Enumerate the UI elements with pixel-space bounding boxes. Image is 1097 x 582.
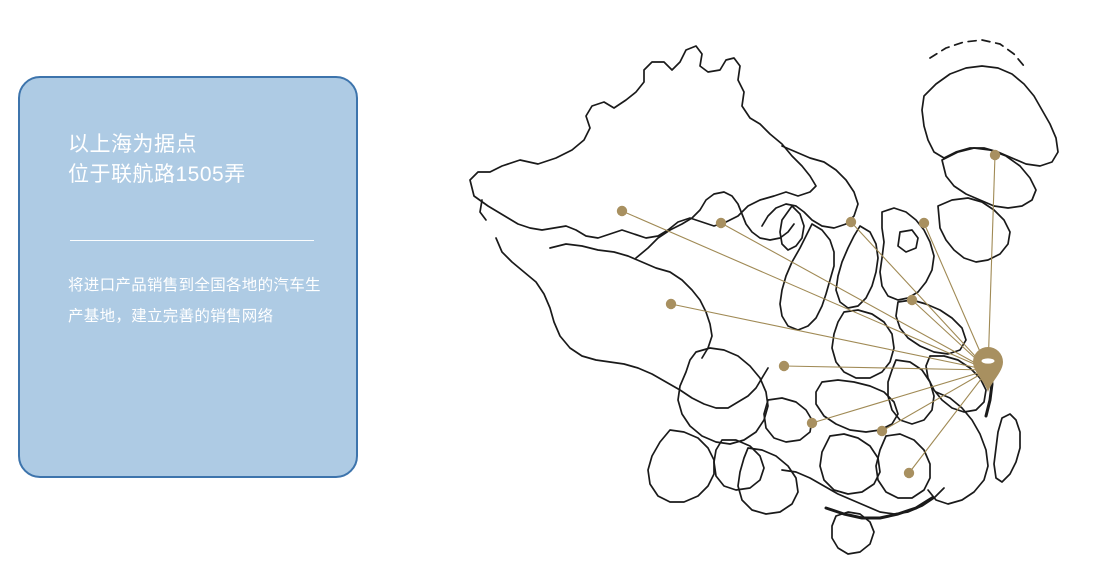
province-hubei xyxy=(816,380,898,432)
connection-line-node-3 xyxy=(851,222,988,370)
panel-heading-line-2: 位于联航路1505弄 xyxy=(68,160,348,190)
info-panel: 以上海为据点 位于联航路1505弄 将进口产品销售到全国各地的汽车生产基地，建立… xyxy=(18,76,358,478)
panel-divider xyxy=(70,240,314,241)
province-guangxi xyxy=(738,448,798,514)
border-dashed-north xyxy=(930,40,1024,66)
province-tibet xyxy=(496,238,768,408)
node-2-dot[interactable] xyxy=(716,218,726,228)
panel-body-text: 将进口产品销售到全国各地的汽车生产基地，建立完善的销售网络 xyxy=(68,270,330,332)
island-taiwan xyxy=(994,414,1020,482)
map-outlines xyxy=(470,40,1058,554)
node-6-dot[interactable] xyxy=(907,295,917,305)
node-3-dot[interactable] xyxy=(846,217,856,227)
province-heilongjiang xyxy=(922,66,1058,166)
coastline-accent-south xyxy=(826,498,932,518)
map-pin-body[interactable] xyxy=(973,347,1003,392)
connection-line-node-9 xyxy=(812,370,988,423)
connection-line-node-7 xyxy=(671,304,988,370)
province-sichuan xyxy=(678,348,768,444)
map-pin-icon[interactable] xyxy=(973,347,1003,392)
node-7-dot[interactable] xyxy=(666,299,676,309)
node-5-dot[interactable] xyxy=(990,150,1000,160)
connection-line-node-4 xyxy=(924,223,988,370)
province-qinghai xyxy=(550,244,712,358)
city-beijing xyxy=(898,230,918,252)
china-sales-network-map xyxy=(430,0,1097,582)
panel-heading: 以上海为据点 位于联航路1505弄 xyxy=(68,130,348,190)
province-yunnan xyxy=(648,430,714,502)
province-shanxi xyxy=(836,226,878,308)
province-jiangxi xyxy=(876,434,930,498)
node-10-dot[interactable] xyxy=(877,426,887,436)
connection-line-node-2 xyxy=(721,223,988,370)
node-9-dot[interactable] xyxy=(807,418,817,428)
map-pin-hole xyxy=(982,358,995,363)
province-xinjiang xyxy=(470,46,816,238)
node-8-dot[interactable] xyxy=(779,361,789,371)
connection-line-node-5 xyxy=(988,155,995,370)
node-4-dot[interactable] xyxy=(919,218,929,228)
node-1-dot[interactable] xyxy=(617,206,627,216)
node-11-dot[interactable] xyxy=(904,468,914,478)
province-inner-mongolia xyxy=(762,146,858,228)
connection-line-node-1 xyxy=(622,211,988,370)
province-hunan xyxy=(820,434,880,494)
province-shaanxi xyxy=(780,224,834,330)
panel-heading-line-1: 以上海为据点 xyxy=(68,130,348,160)
city-chongqing xyxy=(764,398,812,442)
